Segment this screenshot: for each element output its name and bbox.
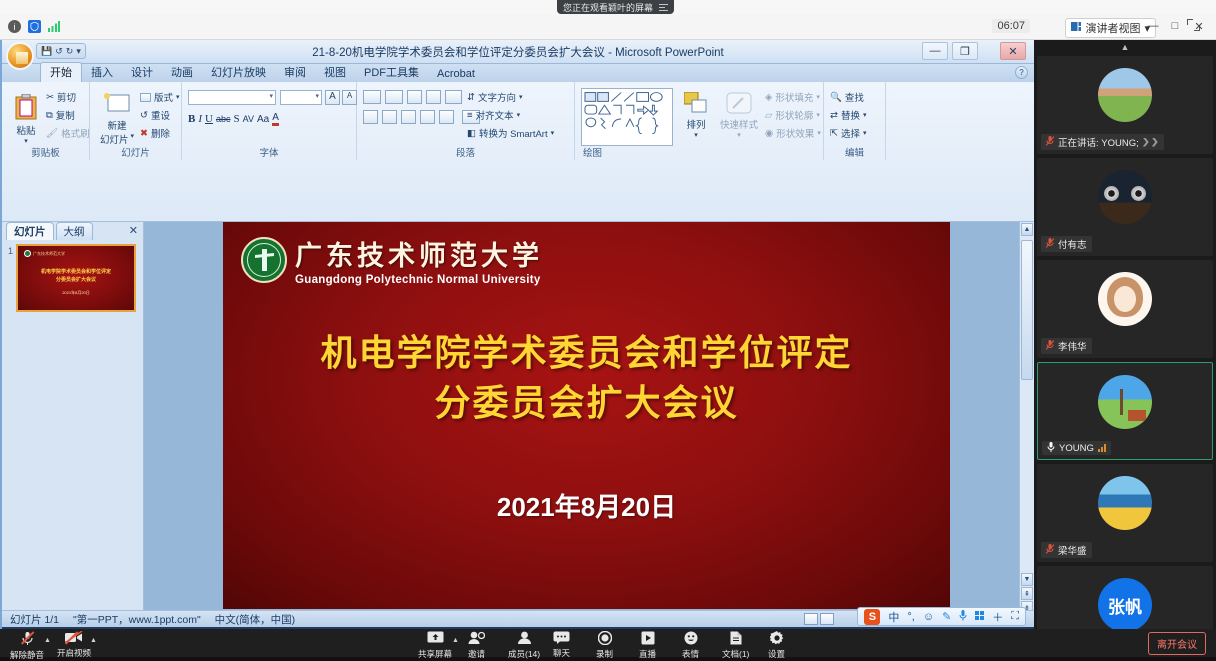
leave-meeting-button[interactable]: 离开会议	[1148, 632, 1206, 655]
thumbnail-date: 2021年8月20日	[18, 290, 134, 296]
line-spacing-button[interactable]	[445, 90, 462, 104]
ppt-maximize-button[interactable]: ❐	[952, 42, 978, 60]
screenshare-notice-label: 您正在观看颖叶的屏幕	[563, 1, 653, 14]
participant-name: 付有志	[1058, 237, 1087, 251]
ribbon-group-slides: 新建 幻灯片▾ 版式▾ ↺ 重设 ✖ 删除 幻灯片	[90, 82, 182, 160]
mic-muted-icon	[1046, 544, 1054, 556]
slide-count-label: 幻灯片 1/1	[10, 612, 59, 627]
new-slide-button[interactable]: 新建 幻灯片▾	[96, 88, 138, 150]
record-icon	[598, 631, 612, 647]
new-slide-label-line2: 幻灯片	[100, 132, 129, 146]
theme-label: "第一PPT，www.1ppt.com"	[73, 612, 201, 627]
shared-screen-area: 21-8-20机电学院学术委员会和学位评定分委员会扩大会议 - Microsof…	[0, 40, 1034, 643]
university-name-en: Guangdong Polytechnic Normal University	[295, 274, 543, 286]
distribute-button[interactable]	[439, 110, 454, 124]
quick-styles-label: 快速样式	[720, 117, 758, 131]
slide-thumbnail-number: 1	[8, 246, 13, 256]
settings-button[interactable]: 设置	[768, 631, 785, 660]
ribbon-group-editing: 🔍 查找 ⇄ 替换▾ ⇱ 选择▾ 编辑	[824, 82, 886, 160]
shape-effects-button[interactable]: ◉ 形状效果▾	[765, 126, 821, 140]
view-switch-label: 演讲者视图	[1085, 20, 1140, 36]
quick-styles-icon	[726, 92, 752, 117]
avatar	[1098, 375, 1152, 429]
office-button[interactable]	[6, 42, 34, 70]
redo-icon[interactable]: ↻	[66, 46, 74, 57]
copy-label: 复制	[56, 108, 75, 122]
arrange-label: 排列	[686, 117, 705, 131]
shrink-font-button[interactable]: A	[342, 90, 357, 105]
tab-acrobat[interactable]: Acrobat	[428, 67, 484, 82]
meeting-timer: 06:07	[992, 19, 1030, 33]
participant-label: 付有志	[1041, 236, 1092, 252]
mic-muted-icon	[1046, 136, 1054, 148]
character-spacing-button[interactable]: AV	[243, 114, 254, 124]
participants-icon	[517, 631, 532, 647]
thumbnail-logo: 广东技术师范大学	[24, 250, 65, 257]
quick-styles-button[interactable]: 快速样式 ▾	[717, 92, 761, 139]
align-center-button[interactable]	[382, 110, 397, 124]
decrease-indent-button[interactable]	[407, 90, 422, 104]
underline-button[interactable]: U	[205, 113, 213, 125]
record-button[interactable]: 录制	[596, 631, 613, 660]
copy-button[interactable]: ⧉ 复制	[46, 108, 75, 122]
smartart-icon: ◧	[467, 128, 476, 139]
zoom-screenshare-topbar: 您正在观看颖叶的屏幕	[0, 0, 1216, 14]
quick-access-toolbar: 💾 ↺ ↻ ▾	[36, 43, 86, 59]
livestream-icon	[641, 631, 655, 647]
participant-label: 梁华盛	[1041, 542, 1092, 558]
replace-label: 替换	[841, 108, 860, 122]
cut-button[interactable]: ✂ 剪切	[46, 90, 76, 104]
slide-date-text[interactable]: 2021年8月20日	[223, 487, 950, 524]
participant-tile-active[interactable]: YOUNG	[1037, 362, 1213, 460]
align-text-label: 对齐文本	[476, 108, 514, 122]
emoji-icon[interactable]: ☺	[923, 611, 934, 623]
previous-slide-button[interactable]: ⇞	[1021, 587, 1033, 600]
shape-effects-icon: ◉	[765, 128, 773, 139]
participant-tile[interactable]: 付有志	[1037, 158, 1213, 256]
documents-icon	[730, 631, 742, 647]
find-button[interactable]: 🔍 查找	[830, 90, 864, 104]
microphone-icon[interactable]	[959, 610, 967, 624]
shape-fill-label: 形状填充	[775, 90, 813, 104]
reactions-button[interactable]: 表情	[682, 631, 699, 660]
participant-label: 李伟华	[1041, 338, 1092, 354]
livestream-label: 直播	[639, 648, 656, 660]
documents-label: 文档(1)	[722, 648, 749, 660]
participant-label: YOUNG	[1042, 441, 1111, 455]
reactions-label: 表情	[682, 648, 699, 660]
network-strength-icon[interactable]	[48, 20, 60, 33]
tab-shitu[interactable]: 视图	[315, 63, 355, 82]
shape-outline-button[interactable]: ▱ 形状轮廓▾	[765, 108, 820, 122]
save-icon[interactable]: 💾	[41, 46, 52, 57]
bullets-button[interactable]	[363, 90, 381, 104]
font-color-button[interactable]: A	[272, 112, 279, 126]
toolbox-icon[interactable]	[975, 611, 984, 623]
paste-caret[interactable]: ▾	[24, 137, 28, 145]
find-label: 查找	[845, 90, 864, 104]
layout-icon	[1071, 22, 1081, 34]
share-screen-label: 共享屏幕	[418, 648, 452, 660]
invite-button[interactable]: 邀请	[468, 631, 485, 660]
new-slide-icon	[104, 93, 130, 118]
tab-slides-thumbnails[interactable]: 幻灯片	[6, 222, 54, 240]
customize-icon[interactable]: ▾	[76, 46, 81, 57]
record-label: 录制	[596, 648, 613, 660]
slides-group-label: 幻灯片	[90, 145, 181, 159]
reset-icon: ↺	[140, 110, 148, 121]
paste-button[interactable]: 粘贴 ▾	[8, 88, 44, 150]
participant-tile[interactable]: 李伟华	[1037, 260, 1213, 358]
chat-icon	[553, 631, 570, 646]
avatar	[1098, 476, 1152, 530]
punctuation-icon[interactable]: °,	[907, 611, 914, 623]
search-icon: 🔍	[830, 92, 842, 103]
shape-outline-icon: ▱	[765, 110, 772, 121]
italic-button[interactable]: I	[198, 113, 202, 125]
replace-button[interactable]: ⇄ 替换▾	[830, 108, 867, 122]
university-emblem-icon	[241, 237, 287, 283]
align-right-button[interactable]	[401, 110, 416, 124]
drawing-group-label: 绘图	[575, 145, 823, 159]
text-direction-label: 文字方向	[478, 90, 516, 104]
tab-slideshow[interactable]: 幻灯片放映	[202, 63, 275, 82]
info-icon[interactable]: i	[8, 20, 21, 33]
scissors-icon: ✂	[46, 92, 54, 103]
chat-label: 聊天	[553, 647, 570, 659]
video-options-caret[interactable]: ▲	[90, 637, 97, 644]
avatar	[1098, 170, 1152, 224]
align-text-icon: ≡	[467, 110, 473, 121]
settings-gear-icon	[770, 631, 784, 647]
replace-icon: ⇄	[830, 110, 838, 121]
meeting-control-bar: 解除静音 ▲ 开启视频 ▲ 共享屏幕 ▲ 邀请 成员(14) 聊天	[0, 629, 1216, 657]
language-label: 中文(简体，中国)	[215, 612, 296, 627]
hamburger-icon[interactable]	[659, 3, 668, 12]
avatar	[1098, 272, 1152, 326]
window-maximize-button[interactable]: □	[1164, 16, 1186, 36]
meeting-status-icons: i	[0, 20, 60, 33]
university-logo: 广东技术师范大学 Guangdong Polytechnic Normal Un…	[241, 234, 543, 286]
window-close-button[interactable]: ✕	[1188, 16, 1210, 36]
chevron-up-icon[interactable]: ▲	[1034, 40, 1216, 54]
shadow-button[interactable]: S	[233, 113, 239, 125]
select-button[interactable]: ⇱ 选择▾	[830, 126, 867, 140]
documents-button[interactable]: 文档(1)	[722, 631, 749, 660]
clipboard-group-label: 剪贴板	[2, 145, 89, 159]
unmute-label: 解除静音	[10, 649, 44, 661]
arrange-icon	[684, 92, 708, 117]
reset-label: 重设	[151, 108, 170, 122]
share-screen-icon	[427, 631, 444, 647]
ppt-close-button[interactable]: ✕	[1000, 42, 1026, 60]
settings-label: 设置	[768, 648, 785, 660]
close-icon[interactable]: ✕	[129, 224, 138, 237]
select-label: 选择	[841, 126, 860, 140]
ribbon-tab-strip: 开始 插入 设计 动画 幻灯片放映 审阅 视图 PDF工具集 Acrobat	[2, 64, 1034, 82]
slide-edit-area[interactable]: 广东技术师范大学 Guangdong Polytechnic Normal Un…	[144, 222, 1034, 615]
mic-muted-icon	[21, 631, 34, 648]
slide-thumbnail-pane: 幻灯片 大纲 ✕ 1 广东技术师范大学 机电学院学术委员会和学位评定 分委员会扩…	[2, 222, 144, 615]
shape-fill-button[interactable]: ◈ 形状填充▾	[765, 90, 820, 104]
normal-view-button[interactable]	[804, 613, 818, 625]
chat-button[interactable]: 聊天	[553, 631, 570, 659]
scrollbar-thumb[interactable]	[1021, 240, 1033, 380]
layout-button[interactable]: 版式▾	[140, 90, 180, 104]
ime-mode-button[interactable]: 中	[888, 609, 899, 625]
pen-icon[interactable]: ✎	[942, 610, 951, 623]
copy-icon: ⧉	[46, 110, 53, 121]
paragraph-group-label: 段落	[357, 145, 574, 159]
thumbnail-title: 机电学院学术委员会和学位评定 分委员会扩大会议	[18, 268, 134, 284]
add-icon[interactable]: ＋	[992, 609, 1003, 625]
participants-button[interactable]: 成员(14)	[508, 631, 540, 660]
delete-label: 删除	[151, 126, 170, 140]
slide-title-line2: 分委员会扩大会议	[223, 378, 950, 428]
font-group-label: 字体	[182, 145, 356, 159]
participant-name: 正在讲话: YOUNG;	[1058, 135, 1139, 149]
window-minimize-button[interactable]: —	[1142, 16, 1164, 36]
undo-icon[interactable]: ↺	[55, 46, 63, 57]
new-slide-caret[interactable]: ▾	[131, 132, 135, 146]
cut-label: 剪切	[57, 90, 76, 104]
editing-group-label: 编辑	[824, 145, 885, 159]
shapes-gallery[interactable]	[581, 88, 673, 146]
powerpoint-title: 21-8-20机电学院学术委员会和学位评定分委员会扩大会议 - Microsof…	[2, 44, 1034, 60]
tab-shenyue[interactable]: 审阅	[275, 63, 315, 82]
increase-indent-button[interactable]	[426, 90, 441, 104]
view-mode-buttons	[804, 613, 834, 625]
share-screen-button[interactable]: 共享屏幕	[418, 631, 452, 660]
font-size-input[interactable]: ▾	[280, 90, 322, 105]
numbering-button[interactable]	[385, 90, 403, 104]
scroll-up-button[interactable]: ▲	[1021, 223, 1033, 236]
powerpoint-titlebar: 21-8-20机电学院学术委员会和学位评定分委员会扩大会议 - Microsof…	[2, 40, 1034, 64]
slide-thumbnail-item[interactable]: 1 广东技术师范大学 机电学院学术委员会和学位评定 分委员会扩大会议 2021年…	[8, 244, 138, 312]
slide-canvas[interactable]: 广东技术师范大学 Guangdong Polytechnic Normal Un…	[223, 222, 950, 609]
delete-slide-button[interactable]: ✖ 删除	[140, 126, 170, 140]
mic-on-icon	[1047, 442, 1055, 454]
ribbon-group-clipboard: 粘贴 ▾ ✂ 剪切 ⧉ 复制 🖌 格式刷 剪贴板	[2, 82, 90, 160]
ppt-minimize-button[interactable]: —	[922, 42, 948, 60]
format-painter-icon: 🖌	[46, 128, 58, 139]
avatar: 张帆	[1098, 578, 1152, 632]
avatar-initials: 张帆	[1108, 593, 1142, 618]
layout-icon	[140, 93, 151, 102]
strikethrough-button[interactable]: abc	[216, 114, 231, 124]
tab-outline[interactable]: 大纲	[56, 222, 93, 240]
participant-name: YOUNG	[1059, 443, 1094, 454]
ribbon-group-drawing: 排列 ▾ 快速样式 ▾ ◈ 形状填充▾ ▱	[575, 82, 824, 160]
layout-label: 版式	[154, 90, 173, 104]
tab-donghua[interactable]: 动画	[162, 63, 202, 82]
university-name-cn: 广东技术师范大学	[295, 234, 543, 273]
sogou-logo-icon[interactable]: S	[864, 609, 880, 625]
start-video-button[interactable]: 开启视频	[57, 631, 91, 659]
participant-name: 梁华盛	[1058, 543, 1087, 557]
text-direction-icon: ⇵	[467, 92, 475, 103]
sogou-ime-toolbar: S 中 °, ☺ ✎ ＋ ⛶	[857, 607, 1026, 626]
start-video-label: 开启视频	[57, 647, 91, 659]
livestream-button[interactable]: 直播	[639, 631, 656, 660]
share-options-caret[interactable]: ▲	[452, 637, 459, 644]
change-case-button[interactable]: Aa	[257, 114, 269, 125]
format-painter-label: 格式刷	[61, 126, 90, 140]
participant-tile[interactable]: 梁华盛	[1037, 464, 1213, 562]
select-icon: ⇱	[830, 128, 838, 139]
paste-label: 粘贴	[16, 123, 35, 137]
slide-pane-tabs: 幻灯片 大纲	[2, 222, 144, 240]
powerpoint-window: 21-8-20机电学院学术委员会和学位评定分委员会扩大会议 - Microsof…	[2, 40, 1034, 641]
speaking-indicator-icon	[1143, 138, 1159, 147]
new-slide-label-line1: 新建	[107, 118, 126, 132]
arrange-button[interactable]: 排列 ▾	[679, 92, 713, 139]
tab-charu[interactable]: 插入	[82, 63, 122, 82]
grow-font-button[interactable]: A	[325, 90, 340, 105]
shape-effects-label: 形状效果	[776, 126, 814, 140]
settings-icon[interactable]: ⛶	[1011, 610, 1019, 623]
slide-thumbnail-preview[interactable]: 广东技术师范大学 机电学院学术委员会和学位评定 分委员会扩大会议 2021年8月…	[16, 244, 136, 312]
mic-muted-icon	[1046, 238, 1054, 250]
slide-vertical-scrollbar[interactable]: ▲ ▼ ⇞ ⇟	[1019, 222, 1034, 615]
participant-filmstrip[interactable]: ▲ 正在讲话: YOUNG; 付有志	[1034, 40, 1216, 643]
meeting-titlebar: i 06:07 演讲者视图 ▾ — □ ✕	[0, 14, 1216, 40]
invite-icon	[468, 631, 485, 647]
avatar	[1098, 68, 1152, 122]
reset-button[interactable]: ↺ 重设	[140, 108, 170, 122]
align-left-button[interactable]	[363, 110, 378, 124]
screenshare-notice: 您正在观看颖叶的屏幕	[557, 0, 674, 14]
participants-label: 成员(14)	[508, 648, 540, 660]
mic-muted-icon	[1046, 340, 1054, 352]
help-icon[interactable]: ?	[1015, 66, 1028, 79]
reactions-icon	[684, 631, 698, 647]
shield-icon[interactable]	[28, 20, 41, 33]
zoom-meeting-window: i 06:07 演讲者视图 ▾ — □ ✕ 21-8-20机电学院学术委员会和学…	[0, 14, 1216, 657]
tab-pdf-tools[interactable]: PDF工具集	[355, 63, 428, 82]
justify-button[interactable]	[420, 110, 435, 124]
text-direction-button[interactable]: ⇵ 文字方向▾	[467, 90, 523, 104]
align-text-button[interactable]: ≡ 对齐文本▾	[467, 108, 520, 122]
ribbon-group-paragraph: ⇵ 文字方向▾ ≡ 对齐文本▾ ◧ 转换为 SmartArt▾ 段落	[357, 82, 575, 160]
slide-sorter-button[interactable]	[820, 613, 834, 625]
bold-button[interactable]: B	[188, 113, 195, 125]
convert-smartart-button[interactable]: ◧ 转换为 SmartArt▾	[467, 126, 554, 140]
audio-options-caret[interactable]: ▲	[44, 637, 51, 644]
convert-smartart-label: 转换为 SmartArt	[479, 126, 548, 140]
delete-icon: ✖	[140, 128, 148, 139]
slide-title-text[interactable]: 机电学院学术委员会和学位评定 分委员会扩大会议	[223, 328, 950, 428]
font-name-input[interactable]: ▾	[188, 90, 276, 105]
paste-icon	[15, 94, 37, 123]
video-off-icon	[65, 631, 83, 646]
tab-kaishi[interactable]: 开始	[40, 62, 82, 82]
participant-tile[interactable]: 正在讲话: YOUNG;	[1037, 56, 1213, 154]
ribbon-group-font: ▾ ▾ A A B I U abc S AV Aa	[182, 82, 357, 160]
shape-fill-icon: ◈	[765, 92, 772, 103]
participant-label: 正在讲话: YOUNG;	[1041, 134, 1164, 150]
slide-title-line1: 机电学院学术委员会和学位评定	[223, 328, 950, 378]
ribbon: 粘贴 ▾ ✂ 剪切 ⧉ 复制 🖌 格式刷 剪贴板	[2, 82, 1034, 222]
tab-sheji[interactable]: 设计	[122, 63, 162, 82]
network-strength-icon	[1098, 444, 1106, 452]
participant-name: 李伟华	[1058, 339, 1087, 353]
invite-label: 邀请	[468, 648, 485, 660]
shape-outline-label: 形状轮廓	[775, 108, 813, 122]
scroll-down-button[interactable]: ▼	[1021, 573, 1033, 586]
format-painter-button[interactable]: 🖌 格式刷	[46, 126, 90, 140]
